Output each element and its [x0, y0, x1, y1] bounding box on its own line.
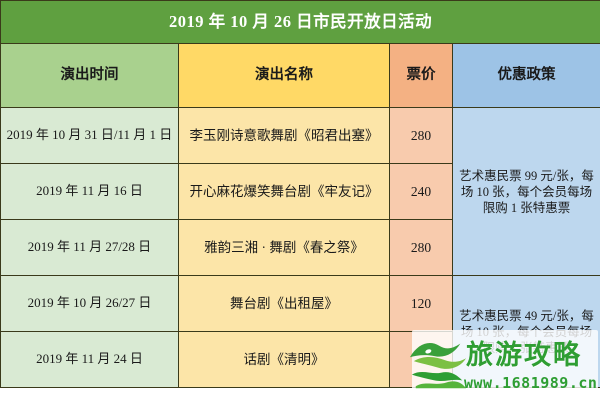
cell-price: 120 — [390, 276, 453, 332]
cell-price: 280 — [390, 108, 453, 164]
cell-time: 2019 年 11 月 24 日 — [1, 332, 179, 388]
cell-price — [390, 332, 453, 388]
performance-schedule-table: 2019 年 10 月 26 日市民开放日活动 演出时间 演出名称 票价 优惠政… — [0, 0, 600, 388]
spreadsheet-canvas: 2019 年 10 月 26 日市民开放日活动 演出时间 演出名称 票价 优惠政… — [0, 0, 600, 400]
cell-policy-group-1: 艺术惠民票 99 元/张，每场 10 张，每个会员每场限购 1 张特惠票 — [453, 108, 600, 276]
page-title: 2019 年 10 月 26 日市民开放日活动 — [1, 1, 600, 44]
cell-name: 雅韵三湘 · 舞剧《春之祭》 — [179, 220, 390, 276]
table-title-row: 2019 年 10 月 26 日市民开放日活动 — [1, 1, 600, 44]
table-row: 2019 年 10 月 31 日/11 月 1 日 李玉刚诗意歌舞剧《昭君出塞》… — [1, 108, 600, 164]
table-row: 2019 年 10 月 26/27 日 舞台剧《出租屋》 120 艺术惠民票 4… — [1, 276, 600, 332]
cell-name: 李玉刚诗意歌舞剧《昭君出塞》 — [179, 108, 390, 164]
cell-policy-group-2: 艺术惠民票 49 元/张，每场 10 张，每个会员每场限购 1 张特惠票 — [453, 276, 600, 388]
column-header-policy: 优惠政策 — [453, 44, 600, 108]
cell-name: 舞台剧《出租屋》 — [179, 276, 390, 332]
table-header-row: 演出时间 演出名称 票价 优惠政策 — [1, 44, 600, 108]
cell-time: 2019 年 11 月 27/28 日 — [1, 220, 179, 276]
cell-time: 2019 年 10 月 31 日/11 月 1 日 — [1, 108, 179, 164]
cell-price: 240 — [390, 164, 453, 220]
cell-name: 话剧《清明》 — [179, 332, 390, 388]
column-header-time: 演出时间 — [1, 44, 179, 108]
column-header-price: 票价 — [390, 44, 453, 108]
cell-price: 280 — [390, 220, 453, 276]
cell-name: 开心麻花爆笑舞台剧《牢友记》 — [179, 164, 390, 220]
column-header-name: 演出名称 — [179, 44, 390, 108]
cell-time: 2019 年 10 月 26/27 日 — [1, 276, 179, 332]
cell-time: 2019 年 11 月 16 日 — [1, 164, 179, 220]
